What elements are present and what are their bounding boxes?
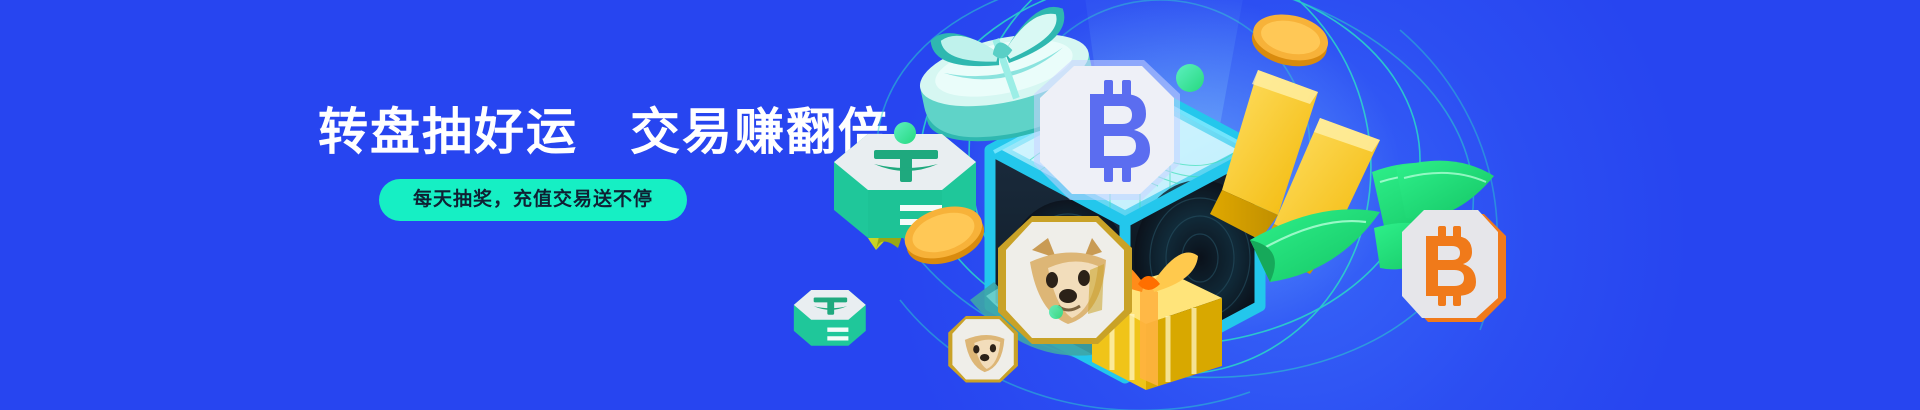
green-dot-icon [1049, 305, 1063, 319]
green-dot-icon [894, 122, 916, 144]
hero-illustration [780, 0, 1920, 410]
promo-banner: 转盘抽好运 交易赚翻倍 每天抽奖，充值交易送不停 [0, 0, 1920, 410]
green-dot-icon [1176, 64, 1204, 92]
subtitle-badge: 每天抽奖，充值交易送不停 [379, 179, 687, 221]
green-leaf-icon [1396, 161, 1494, 219]
bitcoin-cash-coin-icon [1034, 60, 1180, 200]
page-title: 转盘抽好运 交易赚翻倍 [318, 103, 748, 161]
tether-coin-small-icon [794, 290, 866, 346]
bitcoin-coin-icon [1402, 210, 1506, 322]
dogecoin-coin-small-icon [948, 316, 1018, 383]
copy-block: 转盘抽好运 交易赚翻倍 每天抽奖，充值交易送不停 [318, 103, 748, 221]
dogecoin-coin-icon [998, 216, 1132, 344]
